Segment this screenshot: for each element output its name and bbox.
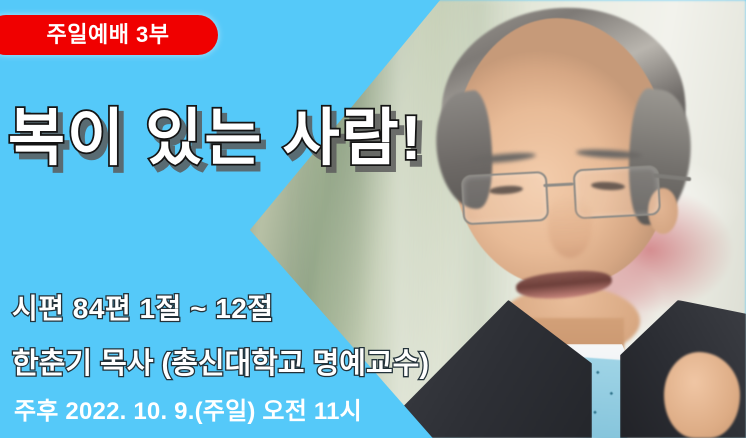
service-badge: 주일예배 3부 (0, 15, 218, 55)
worship-service-poster: 주일예배 3부 복이 있는 사람! 시편 84편 1절 ~ 12절 한춘기 목사… (0, 0, 746, 438)
sermon-title: 복이 있는 사람! (8, 103, 423, 174)
speaker-name: 한춘기 목사 (총신대학교 명예교수) (12, 340, 429, 382)
service-badge-label: 주일예배 3부 (46, 24, 169, 46)
scripture-reference: 시편 84편 1절 ~ 12절 (12, 287, 274, 327)
poster-content: 주일예배 3부 복이 있는 사람! 시편 84편 1절 ~ 12절 한춘기 목사… (0, 0, 746, 438)
service-datetime: 주후 2022. 10. 9.(주일) 오전 11시 (14, 391, 362, 426)
